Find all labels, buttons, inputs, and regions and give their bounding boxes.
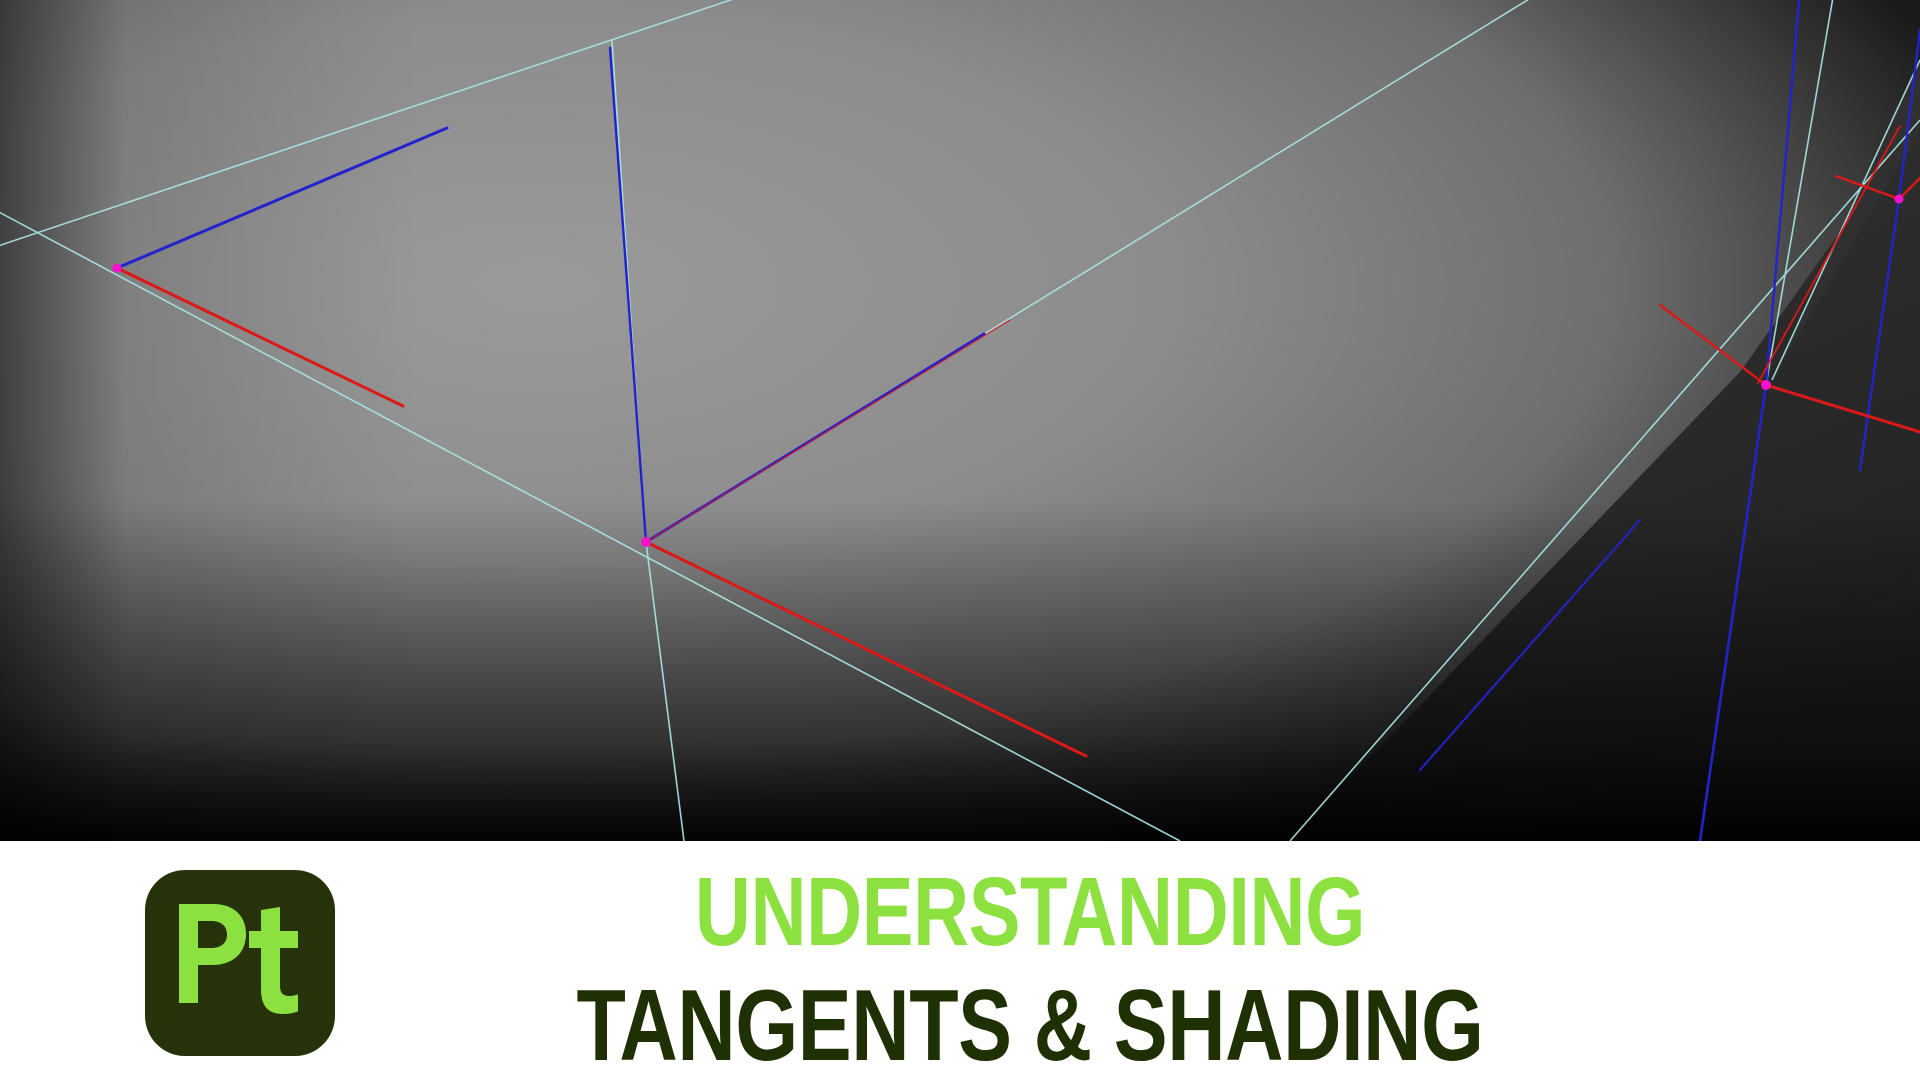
vertex-point-center — [641, 537, 651, 547]
3d-viewport[interactable] — [0, 0, 1920, 841]
vertex-point-far-right — [1895, 195, 1904, 204]
banner-title-block: UNDERSTANDING TANGENTS & SHADING — [400, 857, 1660, 1067]
pt-letters-icon — [165, 888, 315, 1038]
page-title-primary: UNDERSTANDING — [526, 863, 1534, 960]
page-title-secondary: TANGENTS & SHADING — [526, 976, 1534, 1077]
substance-3d-painter-logo-icon — [145, 870, 335, 1056]
screenshot-root: UNDERSTANDING TANGENTS & SHADING — [0, 0, 1920, 1080]
vertex-point-left — [113, 264, 122, 273]
letter-p — [179, 904, 246, 1003]
letter-t — [249, 907, 298, 1014]
vertex-point-right — [1761, 380, 1771, 390]
viewport-render — [0, 0, 1920, 841]
